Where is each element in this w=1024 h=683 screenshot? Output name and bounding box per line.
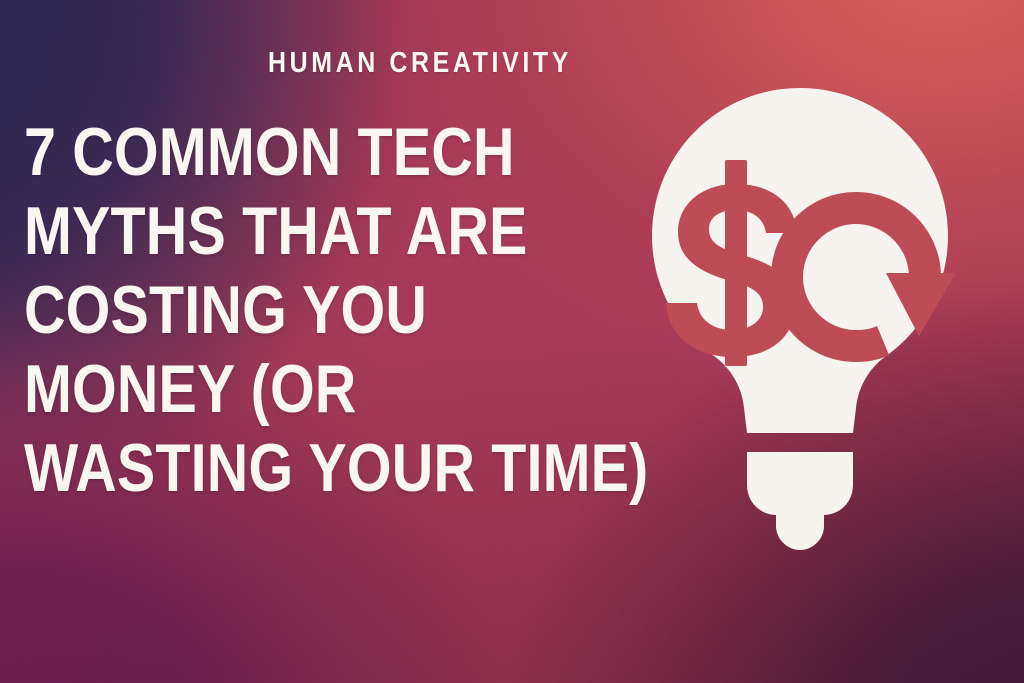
- eyebrow-label: HUMAN CREATIVITY: [268, 49, 572, 78]
- headline-line: MYTHS THAT ARE: [24, 192, 607, 271]
- headline-line: 7 COMMON TECH: [24, 113, 607, 192]
- headline-line: COSTING YOU: [24, 271, 607, 350]
- headline-line: WASTING YOUR TIME): [24, 429, 607, 508]
- headline-line: MONEY (OR: [24, 350, 607, 429]
- blog-hero-banner: HUMAN CREATIVITY 7 COMMON TECH MYTHS THA…: [0, 0, 1024, 683]
- lightbulb-illustration: [600, 60, 1000, 560]
